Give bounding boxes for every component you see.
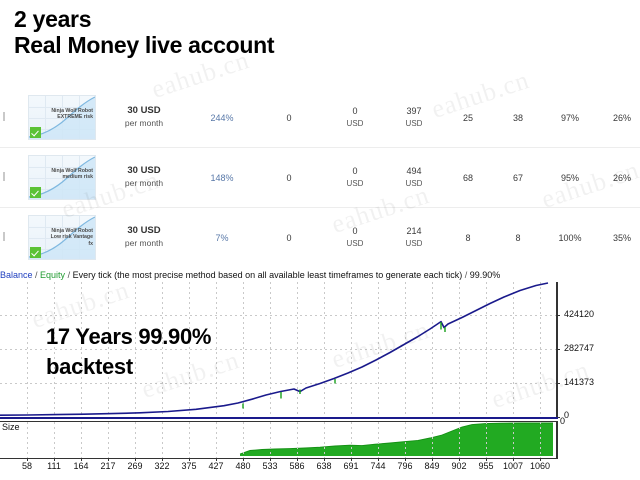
x-tick-label: 217 — [100, 461, 115, 471]
cell-drawdown: 35% — [596, 232, 640, 244]
headline-line-2: Real Money live account — [14, 32, 274, 59]
y-tick-label: 424120 — [564, 309, 594, 319]
x-axis-labels: 58 111 164 217 269 322 375 427 480 533 5… — [0, 458, 556, 478]
table-row[interactable]: Ninja Wolf RobotEXTREME risk 30 USDper m… — [0, 88, 640, 148]
size-axis-label: Size — [1, 422, 21, 432]
cell-trades: 8 — [444, 232, 492, 244]
results-table: Ninja Wolf RobotEXTREME risk 30 USDper m… — [0, 88, 640, 268]
size-area — [0, 422, 556, 456]
verified-check-icon — [30, 247, 41, 258]
x-tick-label: 427 — [208, 461, 223, 471]
cell-price: 30 USDper month — [96, 105, 192, 130]
x-tick-label: 1007 — [503, 461, 523, 471]
row-marker — [0, 148, 8, 207]
cell-amount: 0USD — [326, 105, 384, 130]
headline-line-1: 2 years — [14, 6, 274, 32]
cell-price: 30 USDper month — [96, 225, 192, 250]
chart-header: Balance / Equity / Every tick (the most … — [0, 268, 640, 282]
size-zero-label: 0 — [560, 416, 565, 426]
x-tick-label: 269 — [127, 461, 142, 471]
x-tick-label: 955 — [478, 461, 493, 471]
y-tick-label: 282747 — [564, 343, 594, 353]
x-tick-label: 375 — [181, 461, 196, 471]
x-tick-label: 902 — [451, 461, 466, 471]
cell-price: 30 USDper month — [96, 165, 192, 190]
product-thumbnail[interactable]: Ninja Wolf RobotLow risk Vantage fx — [28, 215, 96, 260]
product-thumbnail[interactable]: Ninja Wolf RobotEXTREME risk — [28, 95, 96, 140]
x-tick-label: 638 — [316, 461, 331, 471]
cell-zero: 0 — [252, 112, 326, 124]
x-tick-label: 164 — [73, 461, 88, 471]
x-tick-label: 533 — [262, 461, 277, 471]
cell-gain: 7% — [192, 232, 252, 244]
row-marker — [0, 208, 8, 267]
cell-drawdown: 26% — [596, 112, 640, 124]
x-tick-label: 744 — [370, 461, 385, 471]
cell-zero: 0 — [252, 172, 326, 184]
cell-win-rate: 100% — [544, 232, 596, 244]
cell-gain: 244% — [192, 112, 252, 124]
x-tick-label: 849 — [424, 461, 439, 471]
legend-equity: Equity — [40, 270, 65, 280]
cell-drawdown: 26% — [596, 172, 640, 184]
cell-profit: 397USD — [384, 105, 444, 130]
cell-win-rate: 95% — [544, 172, 596, 184]
cell-profit: 494USD — [384, 165, 444, 190]
x-tick-label: 691 — [343, 461, 358, 471]
cell-win-rate: 97% — [544, 112, 596, 124]
cell-gain: 148% — [192, 172, 252, 184]
x-tick-label: 480 — [235, 461, 250, 471]
verified-check-icon — [30, 127, 41, 138]
y-axis-labels: 424120 282747 141373 0 — [560, 282, 640, 417]
thumbnail-label: Ninja Wolf Robotmedium risk — [51, 168, 93, 181]
backtest-overlay-line-1: 17 Years 99.90% — [46, 322, 211, 352]
backtest-overlay: 17 Years 99.90% backtest — [46, 322, 211, 382]
x-tick-label: 322 — [154, 461, 169, 471]
x-tick-label: 111 — [47, 461, 61, 471]
x-tick-label: 796 — [397, 461, 412, 471]
cell-profit: 214USD — [384, 225, 444, 250]
backtest-overlay-line-2: backtest — [46, 352, 211, 382]
y-tick-label: 141373 — [564, 377, 594, 387]
product-thumbnail[interactable]: Ninja Wolf Robotmedium risk — [28, 155, 96, 200]
cell-trades: 25 — [444, 112, 492, 124]
thumbnail-label: Ninja Wolf RobotLow risk Vantage fx — [51, 228, 93, 247]
thumbnail-label: Ninja Wolf RobotEXTREME risk — [51, 108, 93, 121]
chart-method-label: Every tick (the most precise method base… — [73, 270, 463, 280]
x-tick-label: 1060 — [530, 461, 550, 471]
row-marker — [0, 88, 8, 147]
table-row[interactable]: Ninja Wolf RobotLow risk Vantage fx 30 U… — [0, 208, 640, 267]
size-plot-area — [0, 421, 558, 459]
headline-block: 2 years Real Money live account — [14, 6, 274, 59]
verified-check-icon — [30, 187, 41, 198]
chart-quality-label: 99.90% — [470, 270, 501, 280]
cell-wins: 67 — [492, 172, 544, 184]
cell-amount: 0USD — [326, 165, 384, 190]
axis-divider — [0, 417, 558, 419]
cell-trades: 68 — [444, 172, 492, 184]
table-row[interactable]: Ninja Wolf Robotmedium risk 30 USDper mo… — [0, 148, 640, 208]
legend-balance: Balance — [0, 270, 33, 280]
cell-wins: 8 — [492, 232, 544, 244]
x-tick-label: 586 — [289, 461, 304, 471]
cell-amount: 0USD — [326, 225, 384, 250]
cell-zero: 0 — [252, 232, 326, 244]
cell-wins: 38 — [492, 112, 544, 124]
x-tick-label: 58 — [22, 461, 32, 471]
